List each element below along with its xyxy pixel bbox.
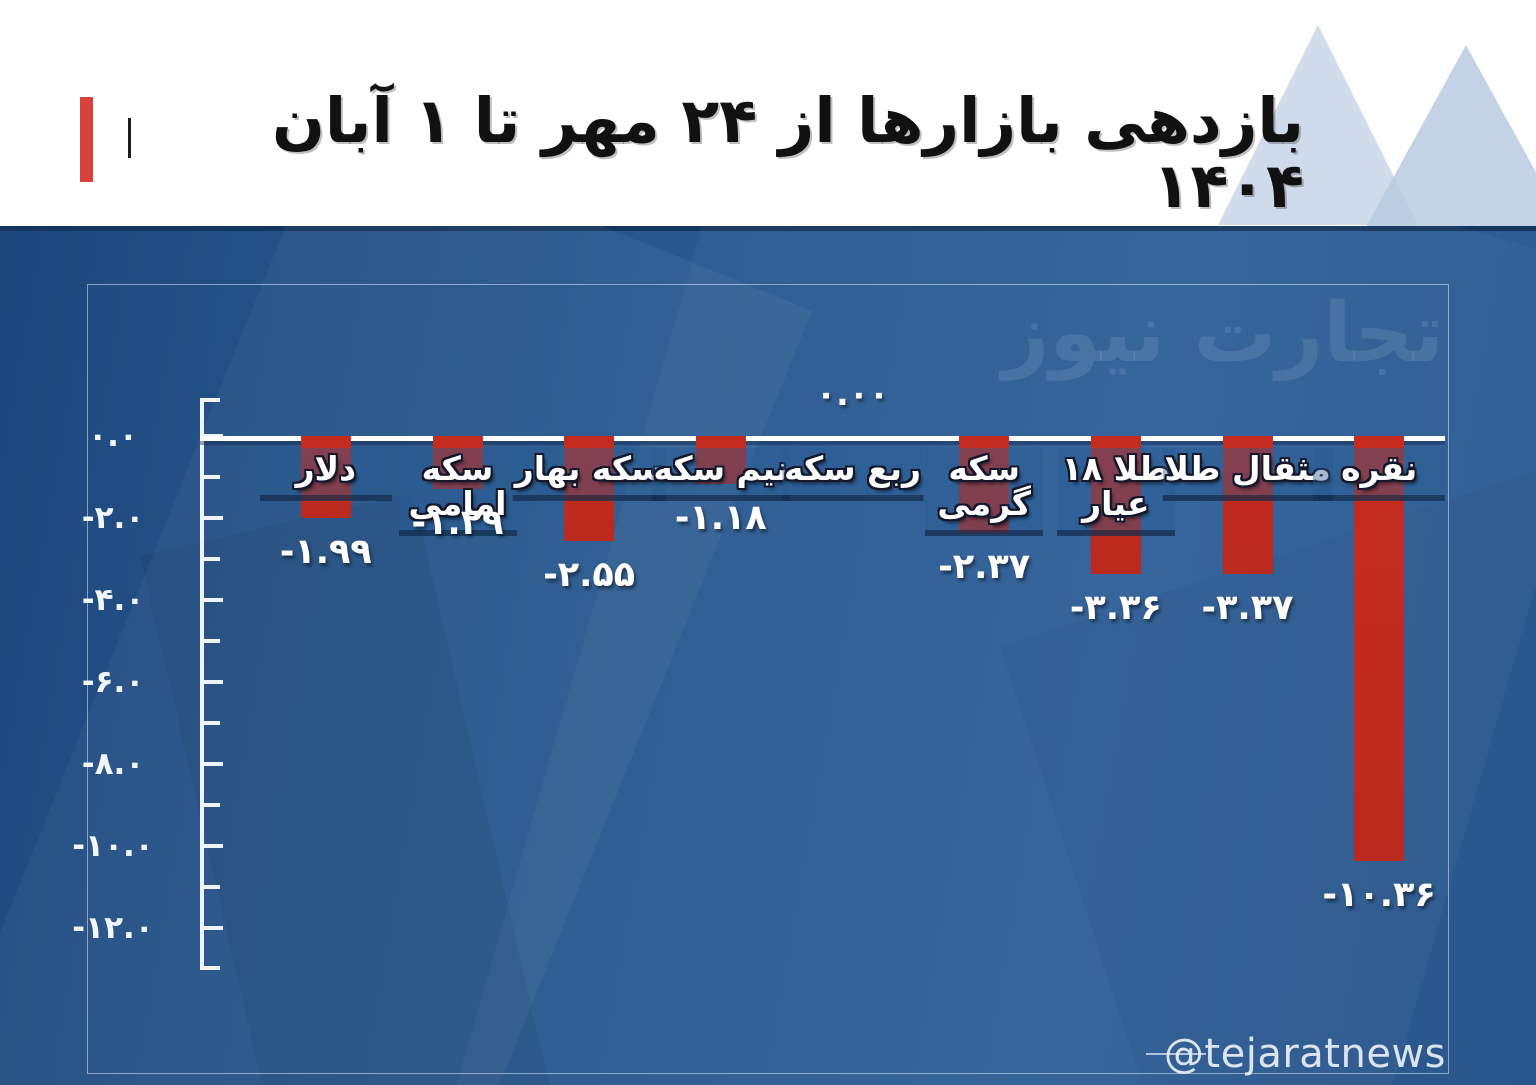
y-axis-tick-minor (200, 475, 220, 479)
bar-value-label: -۱.۹۹ (280, 532, 372, 572)
y-axis-tick-major (200, 926, 223, 930)
bar-value-label: -۱.۲۹ (412, 503, 504, 543)
y-axis-tick-major (200, 762, 223, 766)
y-axis-tick-minor (200, 803, 220, 807)
text-caret-icon (128, 118, 131, 158)
bar-value-label: -۲.۵۵ (543, 555, 635, 595)
y-axis-cap-bottom (200, 966, 220, 970)
plot-area: ۰.۰-۲.۰-۴.۰-۶.۰-۸.۰-۱۰.۰-۱۲.۰دلار-۱.۹۹سک… (200, 398, 1445, 970)
y-axis-tick-minor (200, 557, 220, 561)
bar-category-label: دلار (260, 448, 392, 501)
bar-value-label: ۰.۰۰ (816, 374, 889, 413)
chart-panel: تجارت نیوز @tejaratnews ۰.۰-۲.۰-۴.۰-۶.۰-… (0, 226, 1536, 1085)
y-axis-tick-major (200, 680, 223, 684)
y-axis-tick-minor (200, 721, 220, 725)
y-axis-tick-major (200, 516, 223, 520)
bar-category-label: طلا ۱۸ عیار (1057, 448, 1175, 536)
y-axis-tick-major (200, 598, 223, 602)
title-accent-bar (80, 97, 93, 182)
y-axis-tick-minor (200, 885, 220, 889)
y-axis-tick-major (200, 844, 223, 848)
y-axis-tick-label: -۱۲.۰ (43, 910, 183, 946)
y-axis-tick-label: ۰.۰ (43, 418, 183, 454)
y-axis-tick-label: -۸.۰ (43, 746, 183, 782)
header-band: بازدهی بازارها از ۲۴ مهر تا ۱ آبان ۱۴۰۴ (0, 0, 1536, 226)
bar-category-label: ربع سکه (782, 448, 923, 501)
social-handle: @tejaratnews (1164, 1031, 1446, 1077)
y-axis-tick-minor (200, 639, 220, 643)
y-axis-tick-label: -۱۰.۰ (43, 828, 183, 864)
bar-value-label: -۱۰.۳۶ (1323, 875, 1436, 915)
bar-category-label: سکه گرمی (925, 448, 1043, 536)
slide-root: بازدهی بازارها از ۲۴ مهر تا ۱ آبان ۱۴۰۴ … (0, 0, 1536, 1085)
watermark-logo: تجارت نیوز (1002, 286, 1444, 381)
y-axis-tick-label: -۶.۰ (43, 664, 183, 700)
bar-value-label: -۳.۳۶ (1070, 588, 1162, 628)
bar-category-label: مثقال طلا (1162, 448, 1332, 501)
page-title: بازدهی بازارها از ۲۴ مهر تا ۱ آبان ۱۴۰۴ (224, 88, 1304, 218)
y-axis-tick-label: -۲.۰ (43, 500, 183, 536)
bar-value-label: -۱.۱۸ (675, 498, 767, 538)
bar-category-label: نیم سکه (651, 448, 790, 501)
triangle-decor-secondary-icon (1366, 45, 1536, 226)
bar-category-label: نقره (1313, 448, 1445, 501)
y-axis-cap-top (200, 398, 220, 402)
bar-value-label: -۳.۳۷ (1202, 588, 1294, 628)
bar-category-label: سکه بهار (513, 448, 666, 501)
bar-value-label: -۲.۳۷ (938, 547, 1030, 587)
y-axis-tick-label: -۴.۰ (43, 582, 183, 618)
